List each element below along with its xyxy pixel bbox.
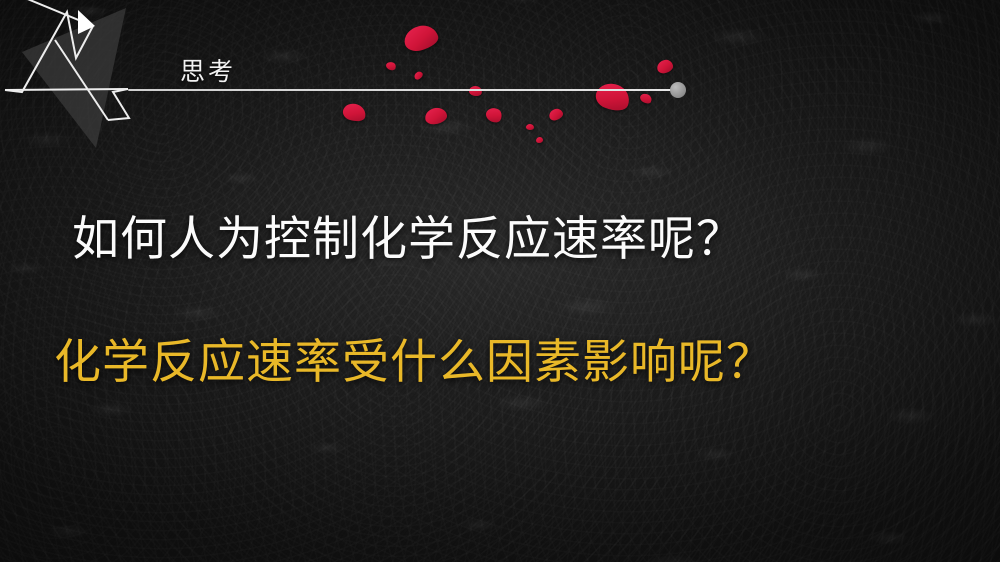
question-line-2: 化学反应速率受什么因素影响呢？: [54, 323, 774, 392]
small-triangle-shape: [108, 89, 129, 120]
header-end-dot: [670, 82, 686, 98]
header-divider-line: [128, 89, 673, 91]
page-title: 思考: [180, 52, 236, 88]
filled-triangle-shape: [22, 8, 126, 148]
slide-canvas: 思考 如何人为控制化学反应速率呢？ 化学反应速率受什么因素影响呢？: [0, 0, 1000, 562]
decoration-cross-line: [5, 89, 128, 90]
question-line-1: 如何人为控制化学反应速率呢？: [72, 200, 744, 269]
